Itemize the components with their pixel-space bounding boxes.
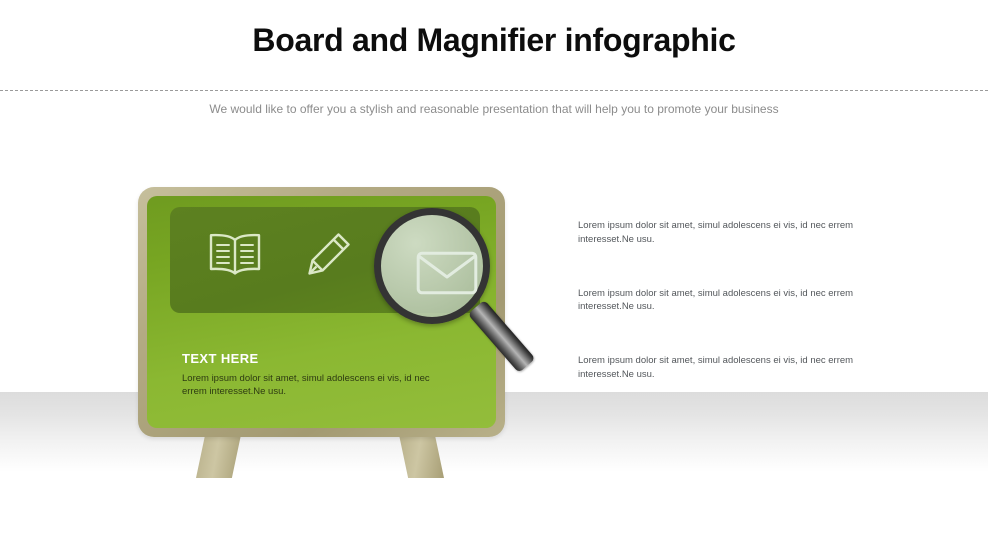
open-book-icon: [207, 232, 263, 281]
right-paragraph: Lorem ipsum dolor sit amet, simul adoles…: [578, 354, 858, 382]
board-body-text: Lorem ipsum dolor sit amet, simul adoles…: [182, 372, 457, 399]
board-leg-right: [398, 430, 444, 478]
board-frame: TEXT HERE Lorem ipsum dolor sit amet, si…: [138, 187, 505, 437]
board-leg-left: [196, 430, 242, 478]
pencil-icon: [305, 230, 353, 283]
board-face: TEXT HERE Lorem ipsum dolor sit amet, si…: [147, 196, 496, 428]
page-title: Board and Magnifier infographic: [0, 22, 988, 59]
board-graphic: TEXT HERE Lorem ipsum dolor sit amet, si…: [138, 187, 508, 482]
board-heading: TEXT HERE: [182, 351, 259, 366]
right-paragraph: Lorem ipsum dolor sit amet, simul adoles…: [578, 287, 858, 315]
header-divider: [0, 90, 988, 91]
right-paragraph: Lorem ipsum dolor sit amet, simul adoles…: [578, 219, 858, 247]
page-subtitle: We would like to offer you a stylish and…: [0, 102, 988, 116]
right-text-column: Lorem ipsum dolor sit amet, simul adoles…: [578, 219, 858, 382]
